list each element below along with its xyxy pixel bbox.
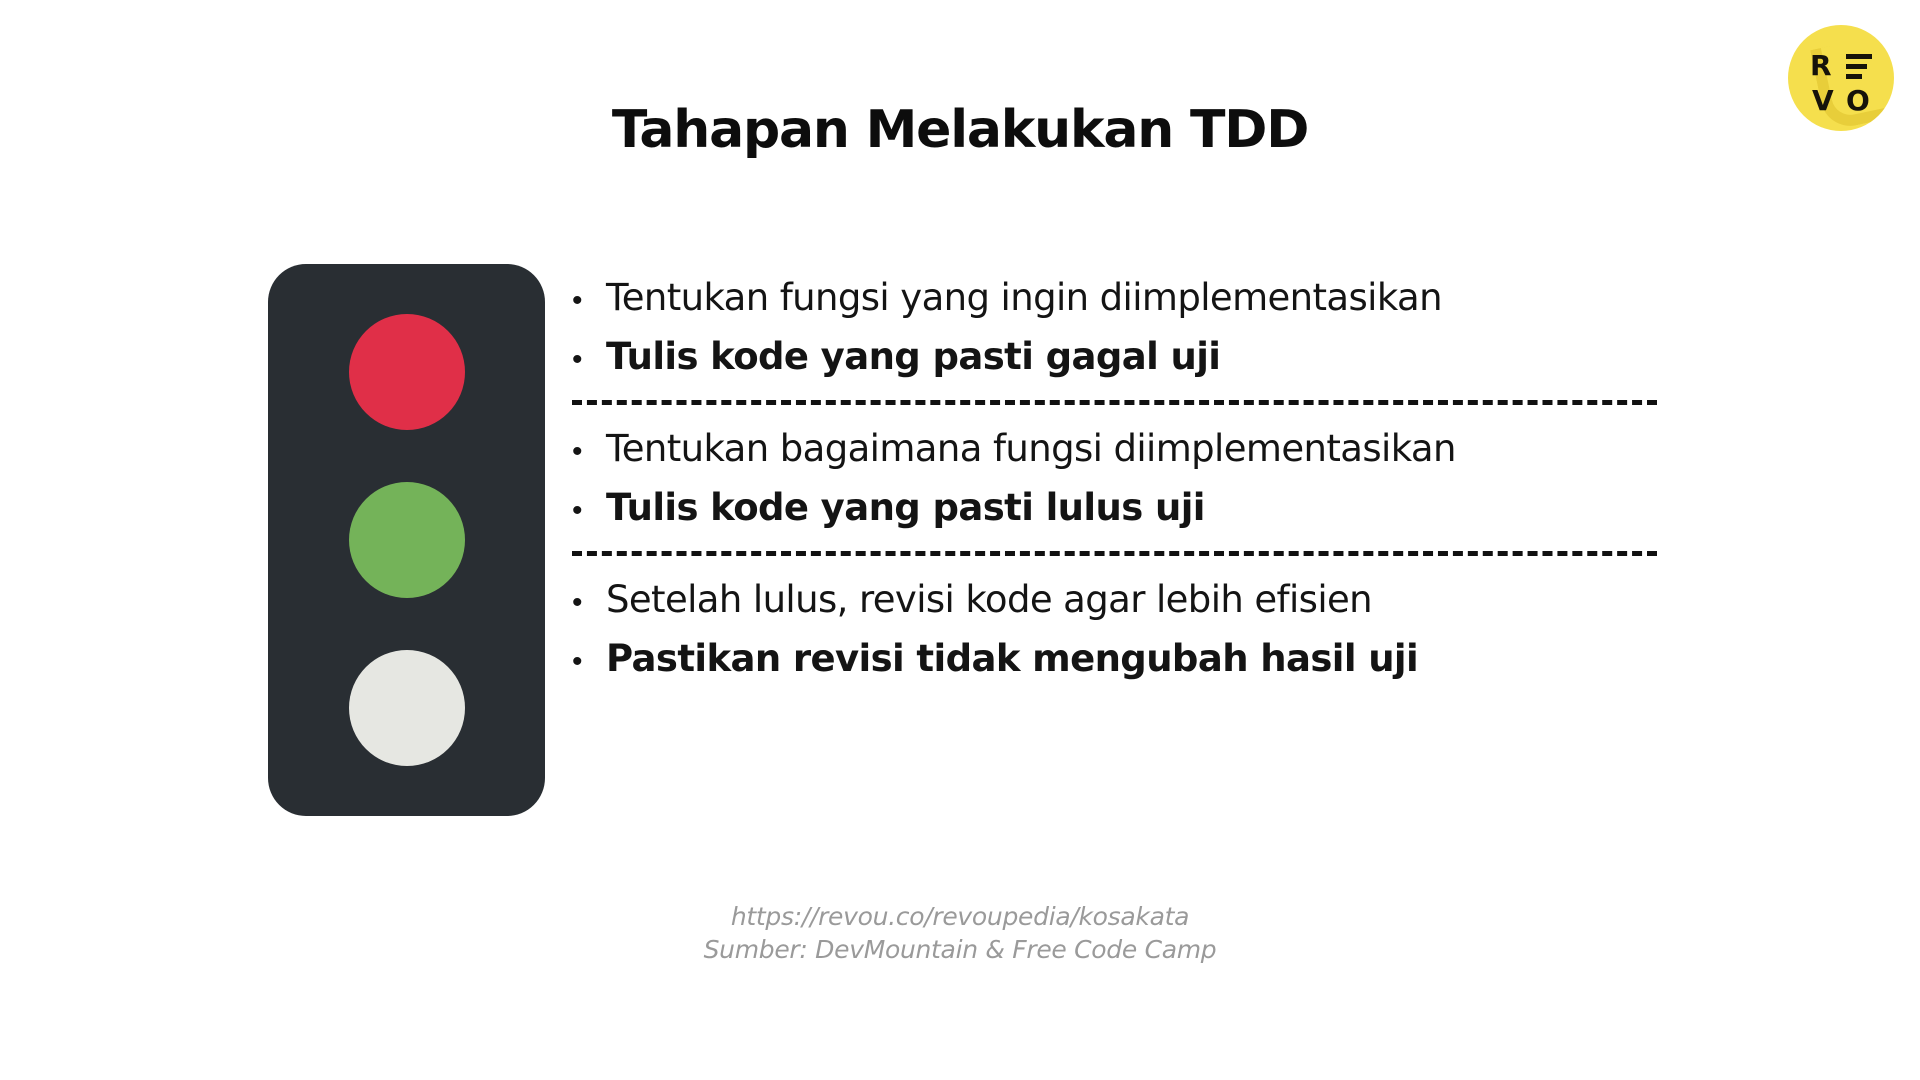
list-item-label: Setelah lulus, revisi kode agar lebih ef… — [606, 578, 1372, 621]
bullet-icon: • — [572, 647, 606, 677]
footer-url[interactable]: https://revou.co/revoupedia/kosakata — [0, 900, 1920, 933]
tdd-steps-list: • Tentukan fungsi yang ingin diimplement… — [572, 276, 1662, 680]
off-lamp-icon — [349, 650, 465, 766]
list-item: • Tulis kode yang pasti gagal uji — [572, 335, 1662, 378]
step-group-green: • Tentukan bagaimana fungsi diimplementa… — [572, 427, 1662, 529]
traffic-light-illustration — [268, 264, 545, 816]
list-item-label: Tulis kode yang pasti gagal uji — [606, 335, 1220, 378]
section-divider — [572, 551, 1657, 556]
footer-attribution: https://revou.co/revoupedia/kosakata Sum… — [0, 900, 1920, 966]
bullet-icon: • — [572, 345, 606, 375]
list-item: • Tentukan bagaimana fungsi diimplementa… — [572, 427, 1662, 470]
bullet-icon: • — [572, 437, 606, 467]
list-item: • Pastikan revisi tidak mengubah hasil u… — [572, 637, 1662, 680]
list-item-label: Pastikan revisi tidak mengubah hasil uji — [606, 637, 1418, 680]
bullet-icon: • — [572, 496, 606, 526]
list-item-label: Tulis kode yang pasti lulus uji — [606, 486, 1205, 529]
slide-root: R V O Tahapan Melakukan TDD • Tentukan f… — [0, 0, 1920, 1080]
footer-source: Sumber: DevMountain & Free Code Camp — [0, 933, 1920, 966]
list-item-label: Tentukan fungsi yang ingin diimplementas… — [606, 276, 1442, 319]
bullet-icon: • — [572, 286, 606, 316]
page-title: Tahapan Melakukan TDD — [0, 100, 1920, 160]
list-item: • Tentukan fungsi yang ingin diimplement… — [572, 276, 1662, 319]
step-group-red: • Tentukan fungsi yang ingin diimplement… — [572, 276, 1662, 378]
red-lamp-icon — [349, 314, 465, 430]
list-item: • Tulis kode yang pasti lulus uji — [572, 486, 1662, 529]
logo-letter-r: R — [1810, 52, 1831, 80]
list-item-label: Tentukan bagaimana fungsi diimplementasi… — [606, 427, 1456, 470]
bullet-icon: • — [572, 588, 606, 618]
list-item: • Setelah lulus, revisi kode agar lebih … — [572, 578, 1662, 621]
section-divider — [572, 400, 1657, 405]
logo-letter-e-icon — [1846, 54, 1872, 78]
green-lamp-icon — [349, 482, 465, 598]
step-group-refactor: • Setelah lulus, revisi kode agar lebih … — [572, 578, 1662, 680]
